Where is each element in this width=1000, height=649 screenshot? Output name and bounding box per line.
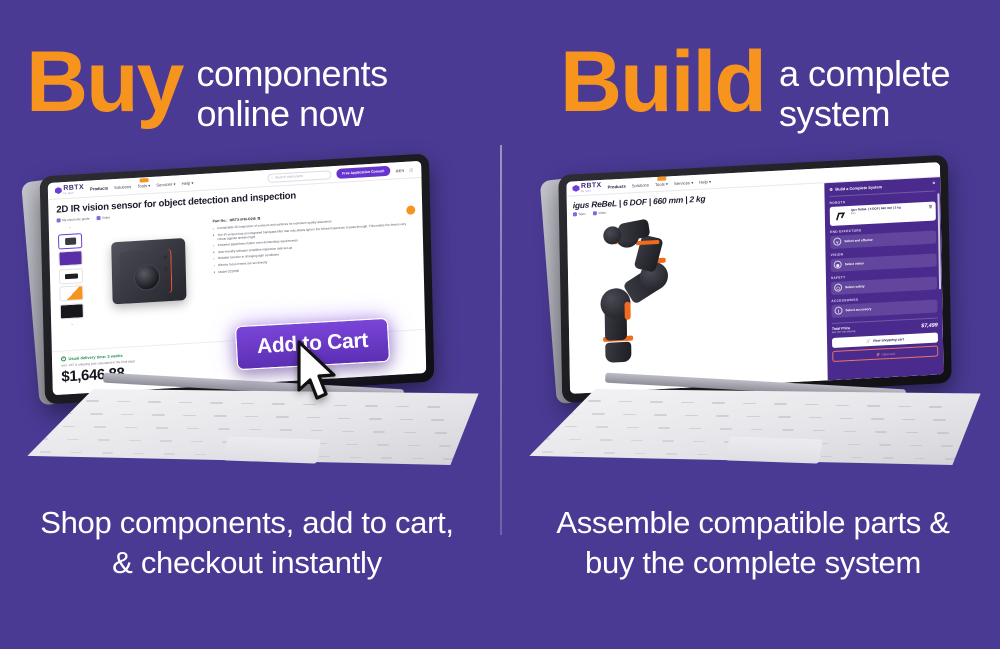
select-safety-row[interactable]: ⬡ Select safety (831, 276, 937, 295)
copy-icon[interactable]: ⧉ (258, 217, 261, 221)
trash-icon[interactable]: 🗑 (928, 204, 932, 208)
close-icon[interactable]: × (932, 181, 935, 186)
data-sheet-icon (573, 212, 577, 216)
headline-left: Buy components online now (26, 42, 388, 135)
rbtx-logo-icon (55, 187, 62, 194)
caption-left-line2: & checkout instantly (12, 543, 482, 583)
nav-item-help[interactable]: Help ▾ (699, 179, 711, 185)
keyboard-base-left (18, 383, 488, 475)
build-system-panel: ⚙ Build a Complete System × ROBOTS (824, 177, 943, 380)
tag-video[interactable]: Video (593, 211, 607, 216)
mouse-cursor-icon (295, 340, 341, 402)
nav-item-solutions[interactable]: Solutions (632, 182, 649, 188)
trackpad-right[interactable] (725, 437, 823, 464)
nav-item-solutions[interactable]: Solutions (114, 184, 131, 190)
nav-item-services[interactable]: Services ▾ (674, 180, 693, 186)
trackpad-left[interactable] (223, 437, 321, 464)
thumbnail-black-bar[interactable] (59, 268, 83, 284)
promo-banner: Buy components online now Build a comple… (0, 0, 1000, 649)
nav-item-products[interactable]: Products (608, 183, 626, 189)
headline-right-sub-line1: a complete (779, 54, 950, 94)
spec-bullet-list: Combinable 2D inspection of contours and… (213, 214, 416, 274)
thumb-next-button[interactable]: ⌄ (70, 321, 73, 326)
laptop-left: RBTX by igus Products Solutions Tools ▾ … (18, 165, 488, 475)
headline-right-subtitle: a complete system (779, 54, 950, 135)
rbtx-logo-icon (572, 185, 579, 192)
headline-right-sub-line2: system (779, 94, 950, 134)
nav-item-products[interactable]: Products (90, 185, 108, 191)
laptop-right: RBTX by igus Products Solutions Tools ▾ … (520, 165, 990, 475)
system-build-icon: ⚙ (829, 187, 833, 192)
tablet-screen-left: RBTX by igus Products Solutions Tools ▾ … (40, 153, 435, 404)
headline-left-word: Buy (26, 42, 182, 124)
nav-item-services[interactable]: Services ▾ (156, 181, 175, 187)
product-specs: Part No.: RBTX-IFM-O2I5 ⧉ Combinable 2D … (213, 205, 417, 317)
search-input[interactable]: ⌕ Search robot parts (267, 170, 331, 183)
shield-icon: ⬡ (834, 283, 842, 291)
panel-scrollbar[interactable] (937, 193, 940, 289)
free-consult-button[interactable]: Free Application Consult (336, 166, 391, 178)
data-sheet-icon (57, 218, 61, 222)
headline-right: Build a complete system (560, 42, 950, 135)
cable-icon: ⌇ (834, 306, 842, 314)
gripper-icon: ⋎ (833, 237, 841, 245)
thumbnail-strip: ⌃ ⌄ (57, 225, 85, 327)
keyboard-base-right (520, 383, 990, 475)
select-accessory-label: Select accessory (845, 307, 871, 312)
tag-spec[interactable]: Spec (573, 212, 586, 217)
nav-item-tools[interactable]: Tools ▾ (137, 182, 150, 188)
headline-left-subtitle: components online now (196, 54, 387, 135)
robot-arm-image (573, 212, 703, 369)
camera-icon: ◉ (834, 260, 842, 268)
caption-left: Shop components, add to cart, & checkout… (12, 503, 482, 582)
check-icon: ✓ (61, 356, 66, 361)
headline-left-sub-line1: components (196, 54, 387, 94)
select-end-effector-label: Select end effector (844, 238, 873, 243)
video-icon (96, 216, 100, 220)
tag-video[interactable]: Video (96, 215, 110, 220)
headline-left-sub-line2: online now (196, 94, 387, 134)
rbtx-logo-left[interactable]: RBTX by igus (55, 184, 84, 196)
tablet-bezel-right: RBTX by igus Products Solutions Tools ▾ … (558, 155, 951, 404)
panel-title: Build a Complete System (835, 184, 882, 191)
rbtx-configurator-page: RBTX by igus Products Solutions Tools ▾ … (566, 162, 943, 394)
thumbnail-camera[interactable] (58, 233, 82, 249)
rbtx-logo-sub: by igus (63, 191, 84, 195)
select-vision-row[interactable]: ◉ Select vision (831, 253, 937, 272)
select-end-effector-row[interactable]: ⋎ Select end effector (830, 230, 936, 249)
headline-right-word: Build (560, 42, 765, 124)
selected-robot-row[interactable]: igus ReBeL | 6 DOF | 660 mm | 2 kg igus … (830, 201, 936, 226)
tablet-screen-right: RBTX by igus Products Solutions Tools ▾ … (558, 155, 951, 404)
panel-header: ⚙ Build a Complete System × (829, 181, 935, 196)
search-placeholder: Search robot parts (275, 174, 303, 180)
rbtx-logo-right[interactable]: RBTX by igus (572, 182, 601, 194)
total-price-note: plus VAT and shipping (832, 330, 856, 334)
rbtx-logo-sub: by igus (581, 189, 602, 193)
language-selector[interactable]: ⊕EN (395, 167, 404, 173)
video-icon (593, 211, 597, 215)
select-accessory-row[interactable]: ⌇ Select accessory (831, 299, 937, 318)
cart-icon: 🛒 (866, 339, 870, 343)
total-price-row: Total Price plus VAT and shipping $7,499 (832, 317, 938, 334)
caption-right-line1: Assemble compatible parts & (518, 503, 988, 543)
nav-item-help[interactable]: Help ▾ (182, 180, 194, 186)
trash-icon: 🗑 (876, 352, 880, 356)
search-icon: ⌕ (271, 176, 273, 180)
total-price-value: $7,499 (921, 322, 938, 329)
caption-right-line2: buy the complete system (518, 543, 988, 583)
thumb-prev-button[interactable]: ⌃ (68, 226, 71, 231)
vertical-divider (500, 145, 502, 535)
caption-left-line1: Shop components, add to cart, (12, 503, 482, 543)
thumbnail-dark-panel[interactable] (60, 303, 84, 319)
select-vision-label: Select vision (845, 261, 865, 266)
select-safety-label: Select safety (845, 284, 865, 289)
caption-right: Assemble compatible parts & buy the comp… (518, 503, 988, 582)
tablet-bezel-left: RBTX by igus Products Solutions Tools ▾ … (40, 153, 435, 404)
nav-item-tools[interactable]: Tools ▾ (655, 181, 668, 187)
thumbnail-purple-box[interactable] (58, 250, 82, 266)
thumbnail-orange-accessory[interactable] (59, 285, 83, 301)
robot-arm-icon (833, 209, 848, 223)
product-hero-image (88, 218, 210, 325)
cart-icon[interactable]: 🛒 (409, 167, 414, 172)
clear-cart-button[interactable]: 🗑 Clear cart (832, 346, 938, 363)
